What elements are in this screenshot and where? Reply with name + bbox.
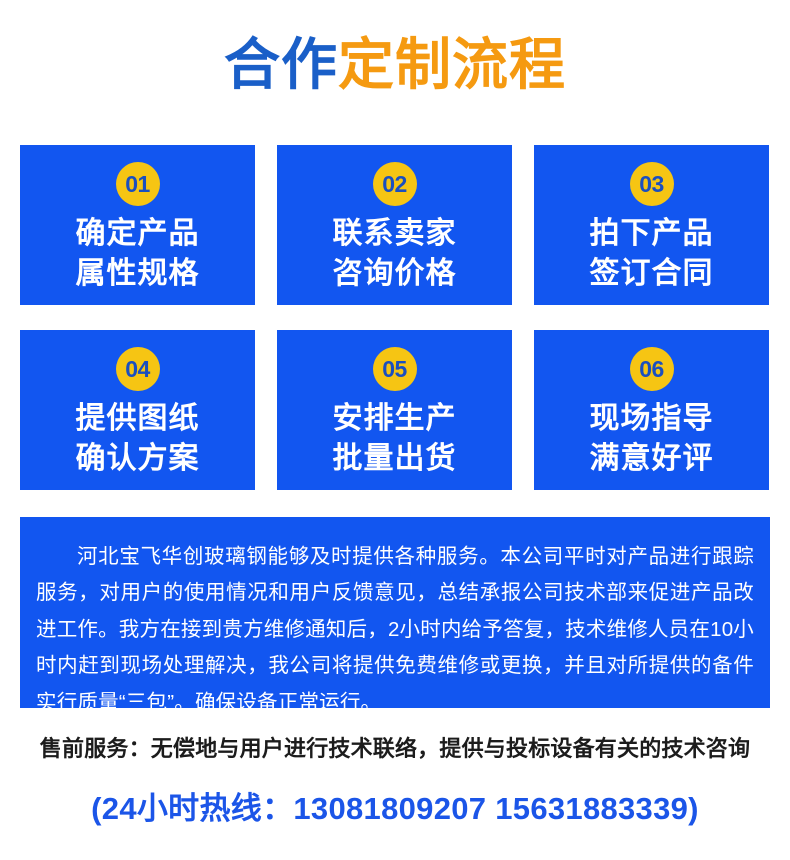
step-number-badge: 01 <box>116 162 160 206</box>
step-label-line1: 安排生产 <box>333 399 457 439</box>
step-label-line2: 满意好评 <box>590 439 714 479</box>
step-number-badge: 03 <box>630 162 674 206</box>
step-label: 安排生产 批量出货 <box>333 399 457 478</box>
process-step-card-03: 03 拍下产品 签订合同 <box>534 145 769 305</box>
step-label-line1: 联系卖家 <box>333 214 457 254</box>
page-title-orange-part: 定制流程 <box>338 33 566 96</box>
page-title: 合作定制流程 <box>0 34 790 96</box>
promo-page: 合作定制流程 01 确定产品 属性规格 02 联系卖家 咨询价格 03 拍下产品… <box>0 0 790 860</box>
step-label-line2: 签订合同 <box>590 254 714 294</box>
step-label-line1: 拍下产品 <box>590 214 714 254</box>
process-step-grid: 01 确定产品 属性规格 02 联系卖家 咨询价格 03 拍下产品 签订合同 0… <box>20 145 770 490</box>
step-number-badge: 02 <box>373 162 417 206</box>
step-label-line1: 提供图纸 <box>76 399 200 439</box>
step-label: 现场指导 满意好评 <box>590 399 714 478</box>
process-step-card-04: 04 提供图纸 确认方案 <box>20 330 255 490</box>
process-step-card-02: 02 联系卖家 咨询价格 <box>277 145 512 305</box>
step-number-badge: 04 <box>116 347 160 391</box>
process-step-card-05: 05 安排生产 批量出货 <box>277 330 512 490</box>
page-title-blue-part: 合作 <box>224 33 338 96</box>
step-label-line1: 现场指导 <box>590 399 714 439</box>
process-step-card-01: 01 确定产品 属性规格 <box>20 145 255 305</box>
step-label: 确定产品 属性规格 <box>76 214 200 293</box>
pre-sales-service-text: 售前服务：无偿地与用户进行技术联络，提供与投标设备有关的技术咨询 <box>0 731 790 763</box>
step-label-line2: 属性规格 <box>76 254 200 294</box>
hotline-text: (24小时热线：13081809207 15631883339) <box>0 783 790 828</box>
step-label: 联系卖家 咨询价格 <box>333 214 457 293</box>
step-label: 拍下产品 签订合同 <box>590 214 714 293</box>
service-description-text: 河北宝飞华创玻璃钢能够及时提供各种服务。本公司平时对产品进行跟踪服务，对用户的使… <box>36 539 754 721</box>
step-label-line2: 确认方案 <box>76 439 200 479</box>
step-label: 提供图纸 确认方案 <box>76 399 200 478</box>
step-number-badge: 05 <box>373 347 417 391</box>
step-number-badge: 06 <box>630 347 674 391</box>
step-label-line2: 咨询价格 <box>333 254 457 294</box>
step-label-line2: 批量出货 <box>333 439 457 479</box>
service-description-panel: 河北宝飞华创玻璃钢能够及时提供各种服务。本公司平时对产品进行跟踪服务，对用户的使… <box>20 517 770 708</box>
process-step-card-06: 06 现场指导 满意好评 <box>534 330 769 490</box>
step-label-line1: 确定产品 <box>76 214 200 254</box>
